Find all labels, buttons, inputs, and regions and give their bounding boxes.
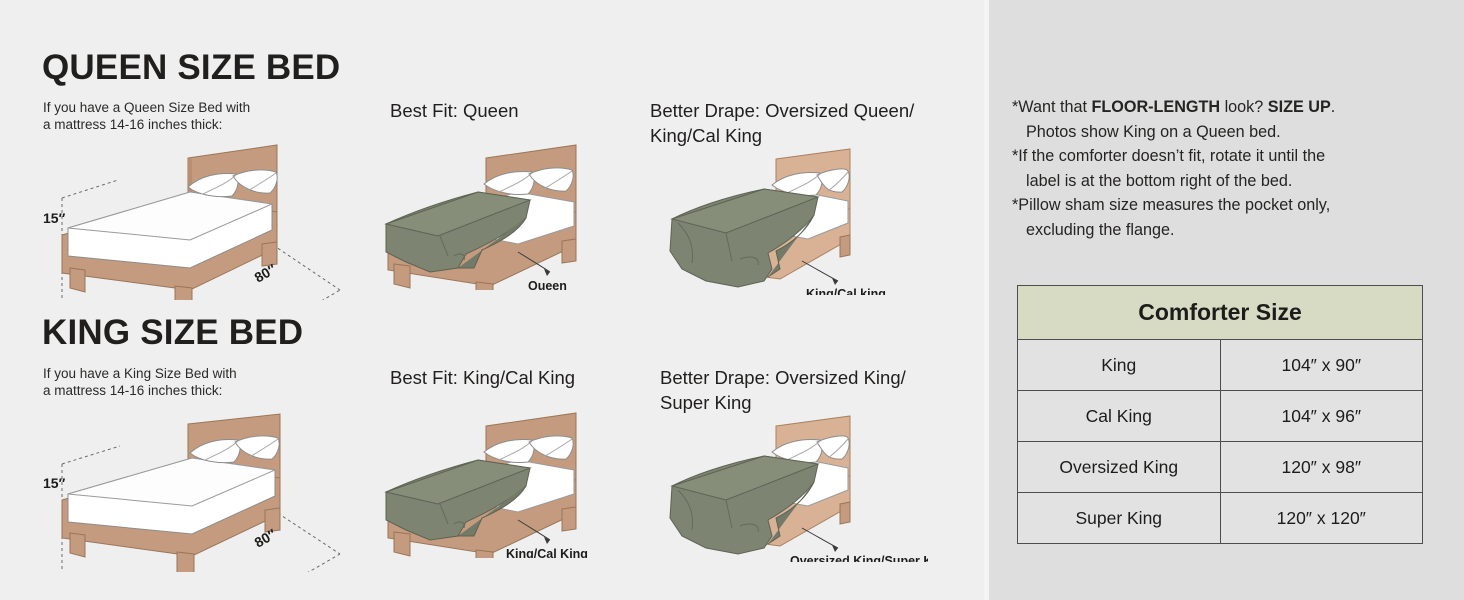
king-section-title: KING SIZE BED bbox=[42, 313, 303, 353]
note-1-line-2: Photos show King on a Queen bed. bbox=[1019, 123, 1281, 141]
table-cell-size-name: Oversized King bbox=[1018, 442, 1221, 493]
note-3-line-1: *Pillow sham size measures the pocket on… bbox=[1012, 196, 1330, 214]
queen-best-fit-heading: Best Fit: Queen bbox=[390, 98, 519, 123]
table-cell-size-value: 104″ x 90″ bbox=[1220, 340, 1423, 391]
king-best-fit-bed-label: King/Cal King bbox=[506, 547, 588, 558]
queen-best-fit-bed-illustration: Queen bbox=[378, 140, 628, 290]
queen-section-subtitle: If you have a Queen Size Bed with a matt… bbox=[43, 99, 250, 133]
king-best-fit-bed-illustration: King/Cal King bbox=[378, 408, 628, 558]
table-cell-size-name: Super King bbox=[1018, 493, 1221, 544]
note-3-line-2: excluding the flange. bbox=[1019, 221, 1175, 239]
king-best-fit-heading: Best Fit: King/Cal King bbox=[390, 365, 575, 390]
king-height-label: 15″ bbox=[43, 475, 66, 491]
note-item-2: *If the comforter doesn’t fit, rotate it… bbox=[1012, 144, 1442, 193]
table-cell-size-value: 104″ x 96″ bbox=[1220, 391, 1423, 442]
note-2-line-1: *If the comforter doesn’t fit, rotate it… bbox=[1012, 147, 1325, 165]
king-section-subtitle: If you have a King Size Bed with a mattr… bbox=[43, 365, 237, 399]
queen-better-drape-heading: Better Drape: Oversized Queen/ King/Cal … bbox=[650, 98, 914, 148]
table-cell-size-value: 120″ x 98″ bbox=[1220, 442, 1423, 493]
queen-height-label: 15″ bbox=[43, 210, 66, 226]
queen-section-title: QUEEN SIZE BED bbox=[42, 48, 340, 88]
queen-best-fit-bed-label: Queen bbox=[528, 279, 567, 290]
notes-list: *Want that FLOOR-LENGTH look? SIZE UP. P… bbox=[1012, 95, 1442, 243]
table-cell-size-name: King bbox=[1018, 340, 1221, 391]
table-cell-size-name: Cal King bbox=[1018, 391, 1221, 442]
king-better-drape-bed-label: Oversized King/Super King bbox=[790, 554, 928, 562]
note-item-1: *Want that FLOOR-LENGTH look? SIZE UP. P… bbox=[1012, 95, 1442, 144]
queen-better-drape-bed-label: King/Cal king bbox=[806, 287, 886, 295]
queen-dimension-bed-illustration: 15″ 60″ 80″ bbox=[40, 140, 350, 300]
king-dimension-bed-illustration: 15″ 76″ 80″ bbox=[40, 412, 350, 572]
queen-better-drape-bed-illustration: King/Cal king bbox=[668, 145, 918, 295]
table-row: Cal King 104″ x 96″ bbox=[1018, 391, 1423, 442]
note-item-3: *Pillow sham size measures the pocket on… bbox=[1012, 193, 1442, 242]
table-row: King 104″ x 90″ bbox=[1018, 340, 1423, 391]
king-better-drape-bed-illustration: Oversized King/Super King bbox=[668, 412, 928, 562]
note-2-line-2: label is at the bottom right of the bed. bbox=[1019, 172, 1292, 190]
table-row: Oversized King 120″ x 98″ bbox=[1018, 442, 1423, 493]
table-header-title: Comforter Size bbox=[1018, 286, 1423, 340]
infographic-page: QUEEN SIZE BED If you have a Queen Size … bbox=[0, 0, 1464, 600]
table-cell-size-value: 120″ x 120″ bbox=[1220, 493, 1423, 544]
table-header-row: Comforter Size bbox=[1018, 286, 1423, 340]
king-better-drape-heading: Better Drape: Oversized King/ Super King bbox=[660, 365, 906, 415]
note-1-line-1: *Want that FLOOR-LENGTH look? SIZE UP. bbox=[1012, 98, 1335, 116]
table-row: Super King 120″ x 120″ bbox=[1018, 493, 1423, 544]
comforter-size-table: Comforter Size King 104″ x 90″ Cal King … bbox=[1017, 285, 1423, 544]
